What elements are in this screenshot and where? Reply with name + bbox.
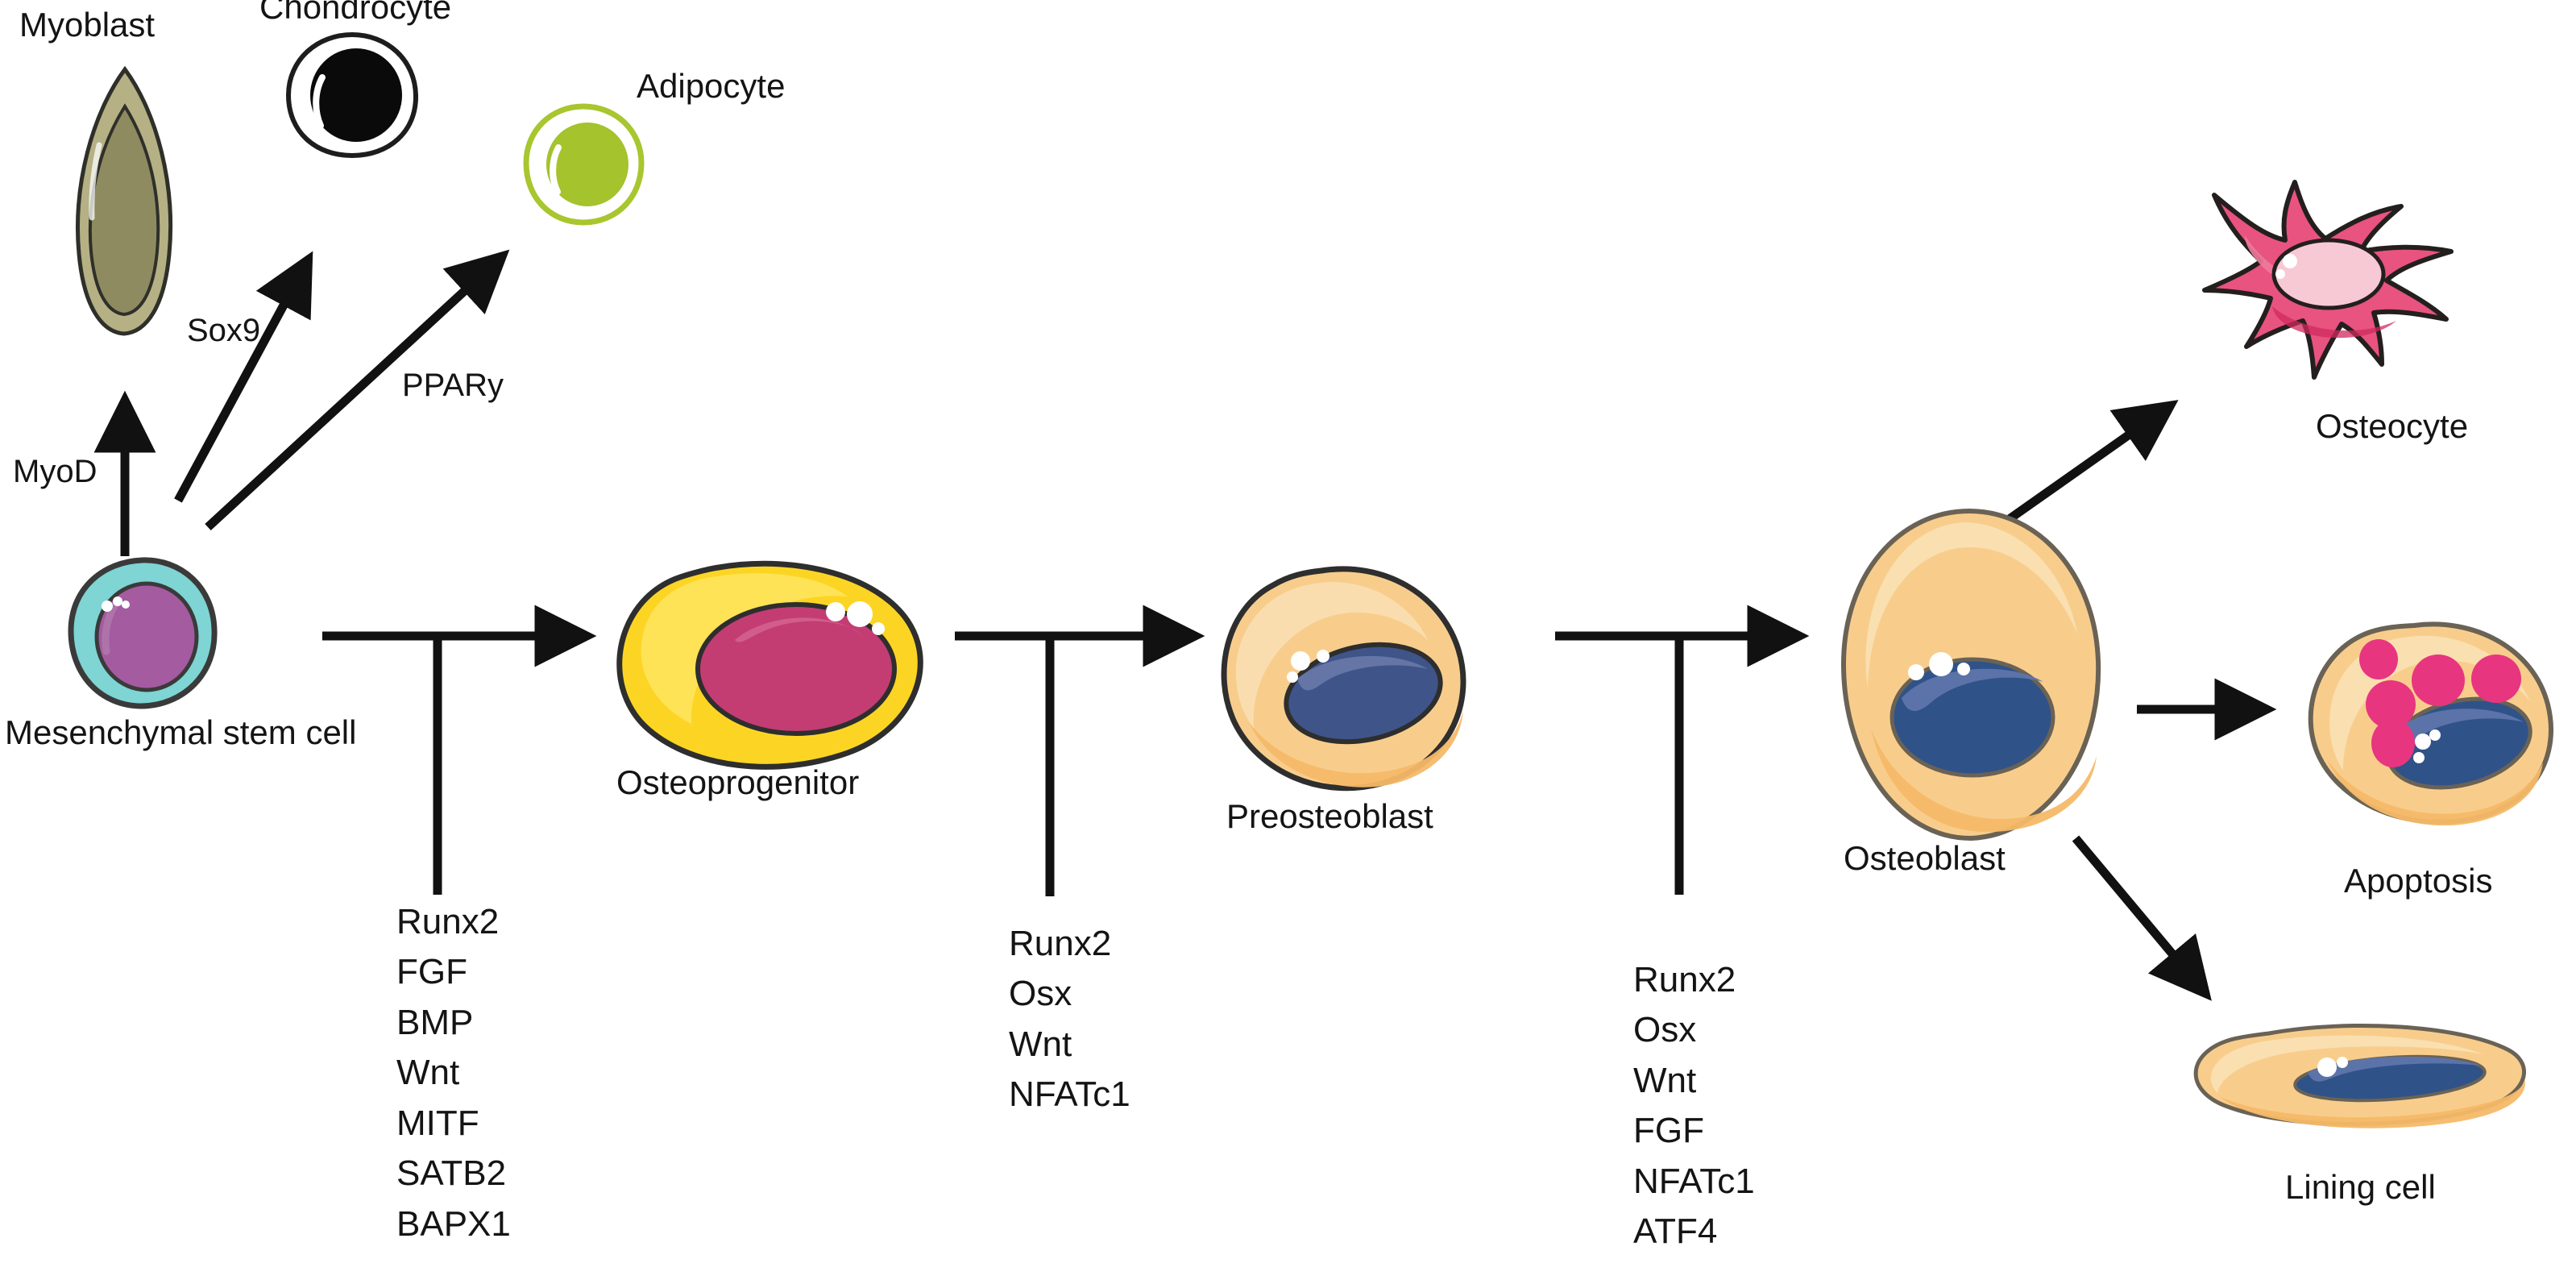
arrow-osteoblast-to-lining-cell [2076, 838, 2204, 991]
gene-item: Osx [1633, 1005, 1755, 1055]
osteocyte-cell [2167, 161, 2506, 427]
myoblast-label: Myoblast [19, 8, 155, 42]
gene-item: BAPX1 [396, 1199, 511, 1249]
gene-item: Osx [1009, 969, 1130, 1019]
gene-item: FGF [396, 947, 511, 997]
preosteoblast-label: Preosteoblast [1226, 800, 1433, 833]
gene-item: BMP [396, 998, 511, 1048]
gene-list-osteoprogenitor-to-preosteoblast: Runx2 Osx Wnt NFATc1 [1009, 919, 1130, 1120]
gene-item: SATB2 [396, 1149, 511, 1199]
osteocyte-label: Osteocyte [2316, 409, 2468, 443]
gene-item: NFATc1 [1009, 1070, 1130, 1120]
osteoprogenitor-cell [606, 556, 930, 774]
mesenchymal-stem-cell [66, 556, 219, 709]
osteoprogenitor-label: Osteoprogenitor [616, 766, 859, 800]
gene-item: Runx2 [1633, 955, 1755, 1005]
factor-myod-label: MyoD [13, 455, 97, 488]
preosteoblast-cell [1209, 564, 1475, 798]
gene-item: Wnt [396, 1048, 511, 1098]
lining-cell [2176, 1022, 2530, 1135]
factor-sox9-label: Sox9 [187, 314, 260, 347]
gene-list-preosteoblast-to-osteoblast: Runx2 Osx Wnt FGF NFATc1 ATF4 [1633, 955, 1755, 1257]
gene-item: Wnt [1009, 1020, 1130, 1070]
apoptosis-label: Apoptosis [2344, 864, 2492, 898]
gene-item: ATF4 [1633, 1207, 1755, 1257]
chondrocyte-cell [284, 31, 421, 160]
gene-item: Wnt [1633, 1056, 1755, 1106]
factor-ppary-label: PPARy [402, 369, 504, 401]
gene-item: Runx2 [396, 897, 511, 947]
adipocyte-label: Adipocyte [637, 69, 785, 103]
lining-cell-label: Lining cell [2285, 1170, 2436, 1204]
mesenchymal-stem-cell-label: Mesenchymal stem cell [5, 716, 356, 750]
chondrocyte-label: Chondrocyte [259, 0, 451, 24]
gene-item: NFATc1 [1633, 1157, 1755, 1207]
myoblast-cell [56, 64, 193, 339]
gene-item: Runx2 [1009, 919, 1130, 969]
apoptosis-cell [2301, 621, 2561, 830]
differentiation-diagram: Myoblast Chondrocyte Adipocyte Mesenchym… [0, 0, 2576, 1280]
gene-item: MITF [396, 1099, 511, 1149]
osteoblast-cell [1836, 506, 2109, 845]
arrow-msc-to-chondrocyte [178, 262, 307, 501]
osteoblast-label: Osteoblast [1844, 842, 2006, 875]
adipocyte-cell [522, 103, 645, 226]
gene-list-msc-to-osteoprogenitor: Runx2 FGF BMP Wnt MITF SATB2 BAPX1 [396, 897, 511, 1249]
gene-item: FGF [1633, 1106, 1755, 1156]
